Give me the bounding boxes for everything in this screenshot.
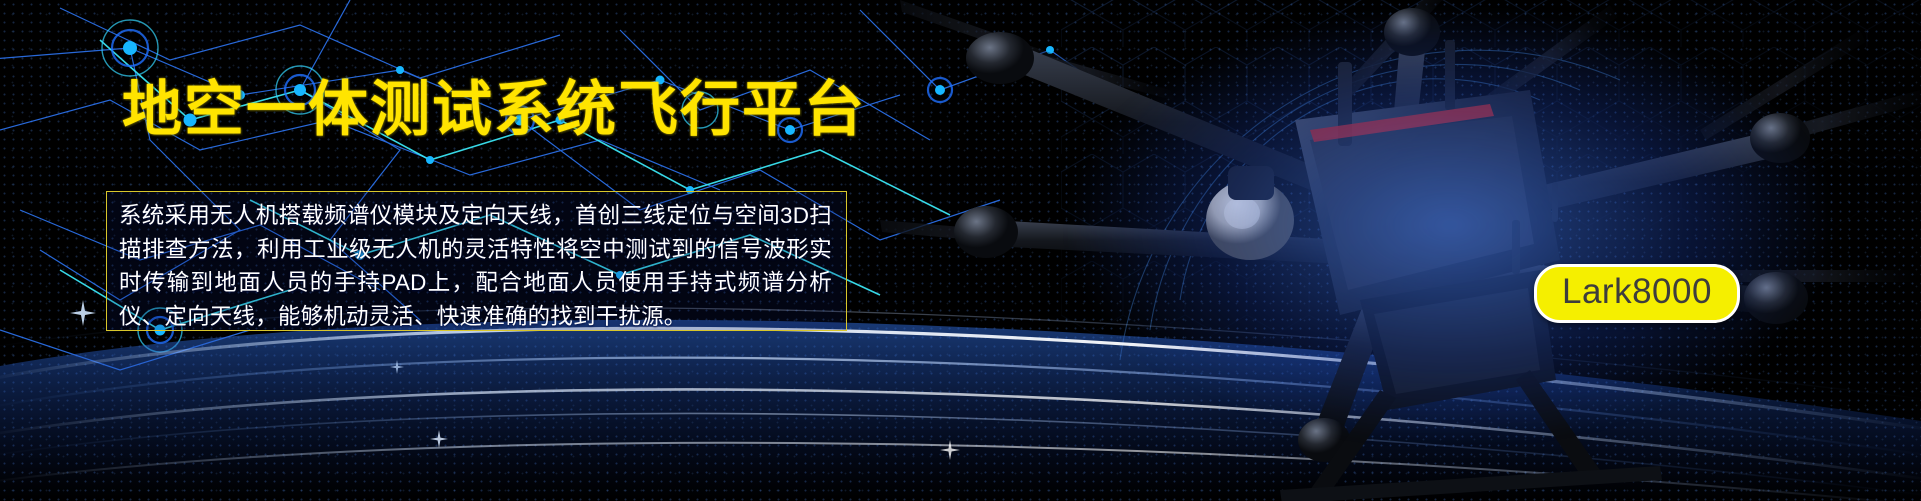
description-text: 系统采用无人机搭载频谱仪模块及定向天线，首创三线定位与空间3D扫描排查方法，利用…	[119, 199, 832, 333]
sparkle-icon	[390, 360, 404, 374]
hexagon-mesh-graphic	[1061, 0, 1921, 360]
product-model-badge: Lark8000	[1534, 264, 1740, 323]
sparkle-icon	[70, 300, 96, 326]
drone-photo	[840, 0, 1921, 501]
promo-banner: 地空一体测试系统飞行平台 系统采用无人机搭载频谱仪模块及定向天线，首创三线定位与…	[0, 0, 1921, 501]
page-title: 地空一体测试系统飞行平台	[122, 79, 866, 141]
sparkle-icon	[430, 430, 448, 448]
description-box: 系统采用无人机搭载频谱仪模块及定向天线，首创三线定位与空间3D扫描排查方法，利用…	[106, 191, 847, 331]
sparkle-icon	[940, 440, 960, 460]
